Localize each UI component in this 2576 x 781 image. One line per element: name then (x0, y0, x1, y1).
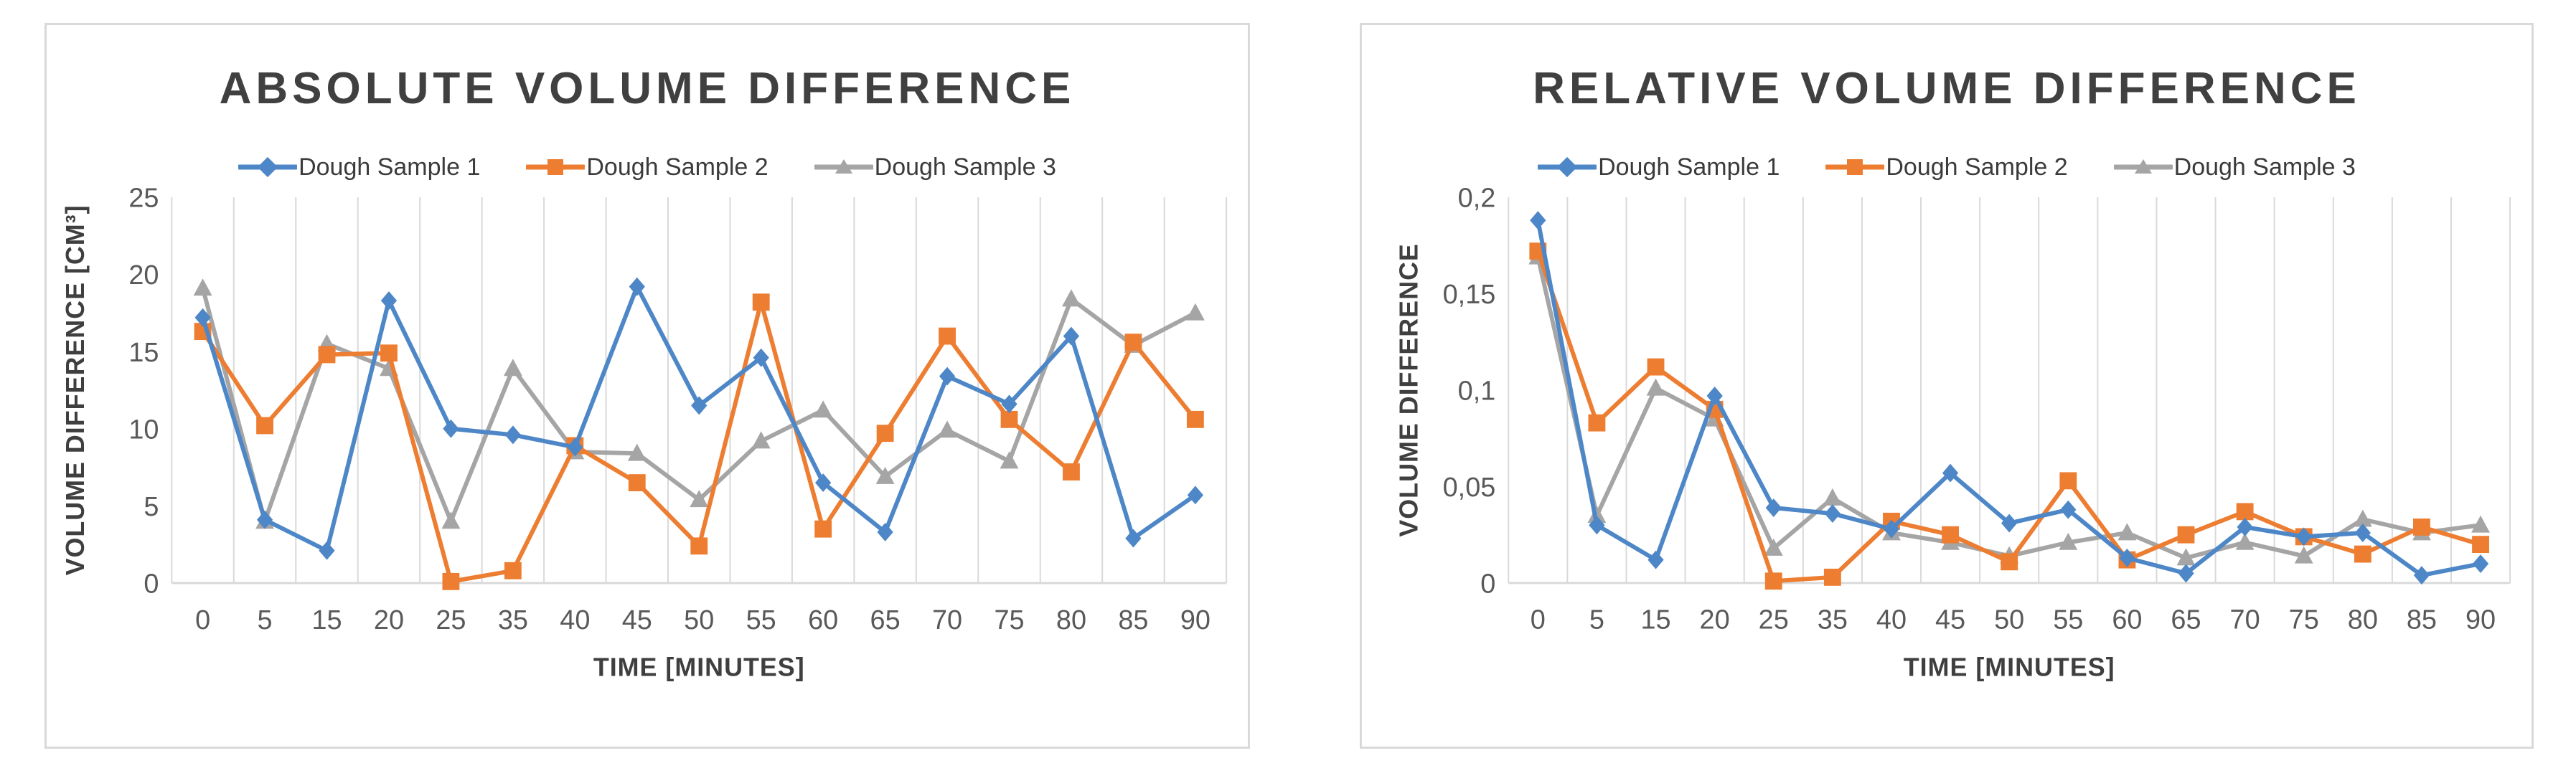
legend-item-dough-sample-1[interactable]: Dough Sample 1 (238, 153, 480, 181)
x-tick-label: 70 (932, 605, 962, 635)
chart-card-absolute-volume-difference: ABSOLUTE VOLUME DIFFERENCE Dough Sample … (44, 23, 1250, 749)
data-point-marker (319, 541, 334, 560)
x-tick-label: 80 (1056, 605, 1086, 635)
x-tick-label: 40 (560, 605, 590, 635)
data-point-marker (319, 346, 336, 364)
gridlines-group (171, 197, 1226, 583)
y-tick-label: 0,15 (1443, 280, 1496, 310)
data-point-marker (443, 420, 459, 438)
x-tick-label: 70 (2230, 605, 2260, 635)
data-point-marker (380, 344, 398, 361)
chart-legend-absolute: Dough Sample 1 Dough Sample 2 Dough Samp… (47, 151, 1248, 183)
data-point-marker (504, 359, 522, 376)
series-2 (194, 293, 1204, 590)
data-point-marker (2354, 546, 2371, 563)
y-axis-title: VOLUME DIFFERENCE [CM³] (61, 204, 90, 575)
data-point-marker (2237, 503, 2254, 520)
plot-svg-relative: 00,050,10,150,20515202535404550556065707… (1362, 183, 2532, 683)
legend-marker-triangle-icon (2114, 155, 2173, 179)
x-tick-label: 35 (498, 605, 528, 635)
data-point-marker (1001, 411, 1018, 428)
x-tick-label: 15 (311, 605, 342, 635)
data-point-marker (1942, 526, 1959, 544)
chart-legend-relative: Dough Sample 1 Dough Sample 2 Dough Samp… (1362, 151, 2532, 183)
data-point-marker (1589, 415, 1606, 432)
x-tick-label: 0 (1531, 605, 1546, 635)
data-point-marker (753, 293, 770, 311)
x-tick-label: 25 (436, 605, 466, 635)
data-point-marker (1825, 504, 1841, 523)
data-point-marker (1647, 359, 1665, 376)
data-point-marker (443, 573, 460, 590)
x-tick-label: 35 (1818, 605, 1848, 635)
x-tick-label: 50 (1994, 605, 2024, 635)
plot-area-absolute: 0510152025051520253540455055606570758085… (47, 183, 1248, 683)
legend-marker-square-icon (1825, 155, 1884, 179)
data-point-marker (381, 291, 397, 310)
data-point-marker (1823, 488, 1842, 506)
data-point-marker (938, 420, 956, 437)
y-axis-title: VOLUME DIFFERENCE (1395, 243, 1424, 536)
legend-marker-diamond-icon (1538, 155, 1597, 179)
y-tick-label: 0,05 (1443, 473, 1496, 503)
data-point-marker (194, 278, 212, 295)
x-tick-label: 75 (2289, 605, 2319, 635)
x-tick-label: 5 (1589, 605, 1604, 635)
legend-marker-triangle-icon (814, 155, 873, 179)
x-tick-label: 90 (1180, 605, 1211, 635)
y-tick-label: 25 (128, 184, 159, 214)
data-point-marker (1647, 551, 1663, 569)
legend-marker-diamond-icon (238, 155, 297, 179)
data-point-marker (814, 521, 832, 538)
x-axis-ticks-group: 05152025354045505560657075808590 (195, 605, 1211, 635)
legend-item-dough-sample-3[interactable]: Dough Sample 3 (814, 153, 1056, 181)
data-point-marker (1062, 289, 1081, 306)
series-1 (194, 278, 1203, 560)
data-point-marker (2059, 472, 2077, 489)
x-tick-label: 65 (870, 605, 901, 635)
x-tick-label: 55 (2053, 605, 2083, 635)
x-axis-title: TIME [MINUTES] (1904, 653, 2115, 681)
plot-area-relative: 00,050,10,150,20515202535404550556065707… (1362, 183, 2532, 683)
data-point-marker (256, 417, 273, 435)
data-point-marker (690, 537, 708, 554)
legend-label-dough-sample-1: Dough Sample 1 (1597, 153, 1780, 181)
x-tick-label: 20 (374, 605, 404, 635)
series-2 (1529, 242, 2489, 590)
data-point-marker (441, 511, 460, 529)
legend-label-dough-sample-1: Dough Sample 1 (297, 153, 480, 181)
screenshot-root: ABSOLUTE VOLUME DIFFERENCE Dough Sample … (0, 0, 2576, 781)
y-tick-label: 0 (144, 569, 159, 600)
x-tick-label: 45 (622, 605, 652, 635)
chart-title-absolute: ABSOLUTE VOLUME DIFFERENCE (47, 67, 1248, 111)
data-point-marker (2413, 519, 2430, 536)
y-tick-label: 15 (128, 338, 159, 368)
series-line (1538, 257, 2481, 558)
x-axis-title: TIME [MINUTES] (593, 653, 805, 682)
data-point-marker (939, 367, 955, 386)
x-tick-label: 45 (1935, 605, 1965, 635)
data-point-marker (2472, 536, 2489, 553)
data-point-marker (504, 562, 522, 579)
legend-label-dough-sample-2: Dough Sample 2 (585, 153, 768, 181)
x-tick-label: 60 (2112, 605, 2142, 635)
x-tick-label: 0 (195, 605, 210, 635)
x-tick-label: 50 (684, 605, 714, 635)
x-tick-label: 40 (1876, 605, 1907, 635)
x-tick-label: 20 (1700, 605, 1730, 635)
data-point-marker (1187, 411, 1204, 428)
data-point-marker (629, 474, 646, 491)
y-tick-label: 20 (128, 260, 159, 290)
chart-card-relative-volume-difference: RELATIVE VOLUME DIFFERENCE Dough Sample … (1360, 23, 2534, 749)
x-tick-label: 80 (2348, 605, 2378, 635)
legend-label-dough-sample-3: Dough Sample 3 (873, 153, 1056, 181)
x-tick-label: 90 (2465, 605, 2496, 635)
legend-item-dough-sample-2[interactable]: Dough Sample 2 (1825, 153, 2067, 181)
x-tick-label: 85 (1118, 605, 1148, 635)
data-point-marker (1063, 463, 1080, 481)
y-tick-label: 0 (1480, 569, 1495, 600)
legend-label-dough-sample-2: Dough Sample 2 (1884, 153, 2067, 181)
y-tick-label: 0,1 (1458, 377, 1496, 407)
x-tick-label: 55 (746, 605, 776, 635)
x-axis-ticks-group: 05152025354045505560657075808590 (1531, 605, 2496, 635)
legend-item-dough-sample-3[interactable]: Dough Sample 3 (2114, 153, 2356, 181)
data-point-marker (1824, 569, 1841, 586)
data-point-marker (814, 400, 832, 417)
data-point-marker (1647, 379, 1665, 396)
data-point-marker (2001, 553, 2018, 570)
x-tick-label: 65 (2171, 605, 2201, 635)
y-axis-ticks-group: 0510152025 (128, 184, 159, 600)
chart-title-relative: RELATIVE VOLUME DIFFERENCE (1362, 67, 2532, 111)
x-tick-label: 60 (808, 605, 838, 635)
data-point-marker (1186, 303, 1205, 321)
x-tick-label: 15 (1640, 605, 1670, 635)
plot-svg-absolute: 0510152025051520253540455055606570758085… (47, 183, 1248, 683)
y-tick-label: 10 (128, 415, 159, 445)
data-point-marker (2117, 523, 2136, 540)
data-point-marker (877, 425, 894, 442)
series-line (203, 287, 1195, 551)
legend-label-dough-sample-3: Dough Sample 3 (2173, 153, 2356, 181)
x-tick-label: 5 (258, 605, 273, 635)
legend-item-dough-sample-2[interactable]: Dough Sample 2 (526, 153, 768, 181)
data-point-marker (505, 425, 521, 444)
data-point-marker (1125, 333, 1142, 351)
data-point-marker (1530, 211, 1546, 229)
y-tick-label: 0,2 (1458, 184, 1496, 214)
y-tick-label: 5 (144, 492, 159, 522)
data-point-marker (2473, 554, 2488, 573)
x-tick-label: 85 (2407, 605, 2437, 635)
legend-item-dough-sample-1[interactable]: Dough Sample 1 (1538, 153, 1780, 181)
y-axis-ticks-group: 00,050,10,150,2 (1443, 184, 1496, 600)
data-point-marker (2178, 526, 2195, 544)
data-point-marker (939, 328, 956, 345)
x-tick-label: 25 (1759, 605, 1789, 635)
data-point-marker (1765, 572, 1782, 590)
legend-marker-square-icon (526, 155, 585, 179)
x-tick-label: 75 (994, 605, 1024, 635)
